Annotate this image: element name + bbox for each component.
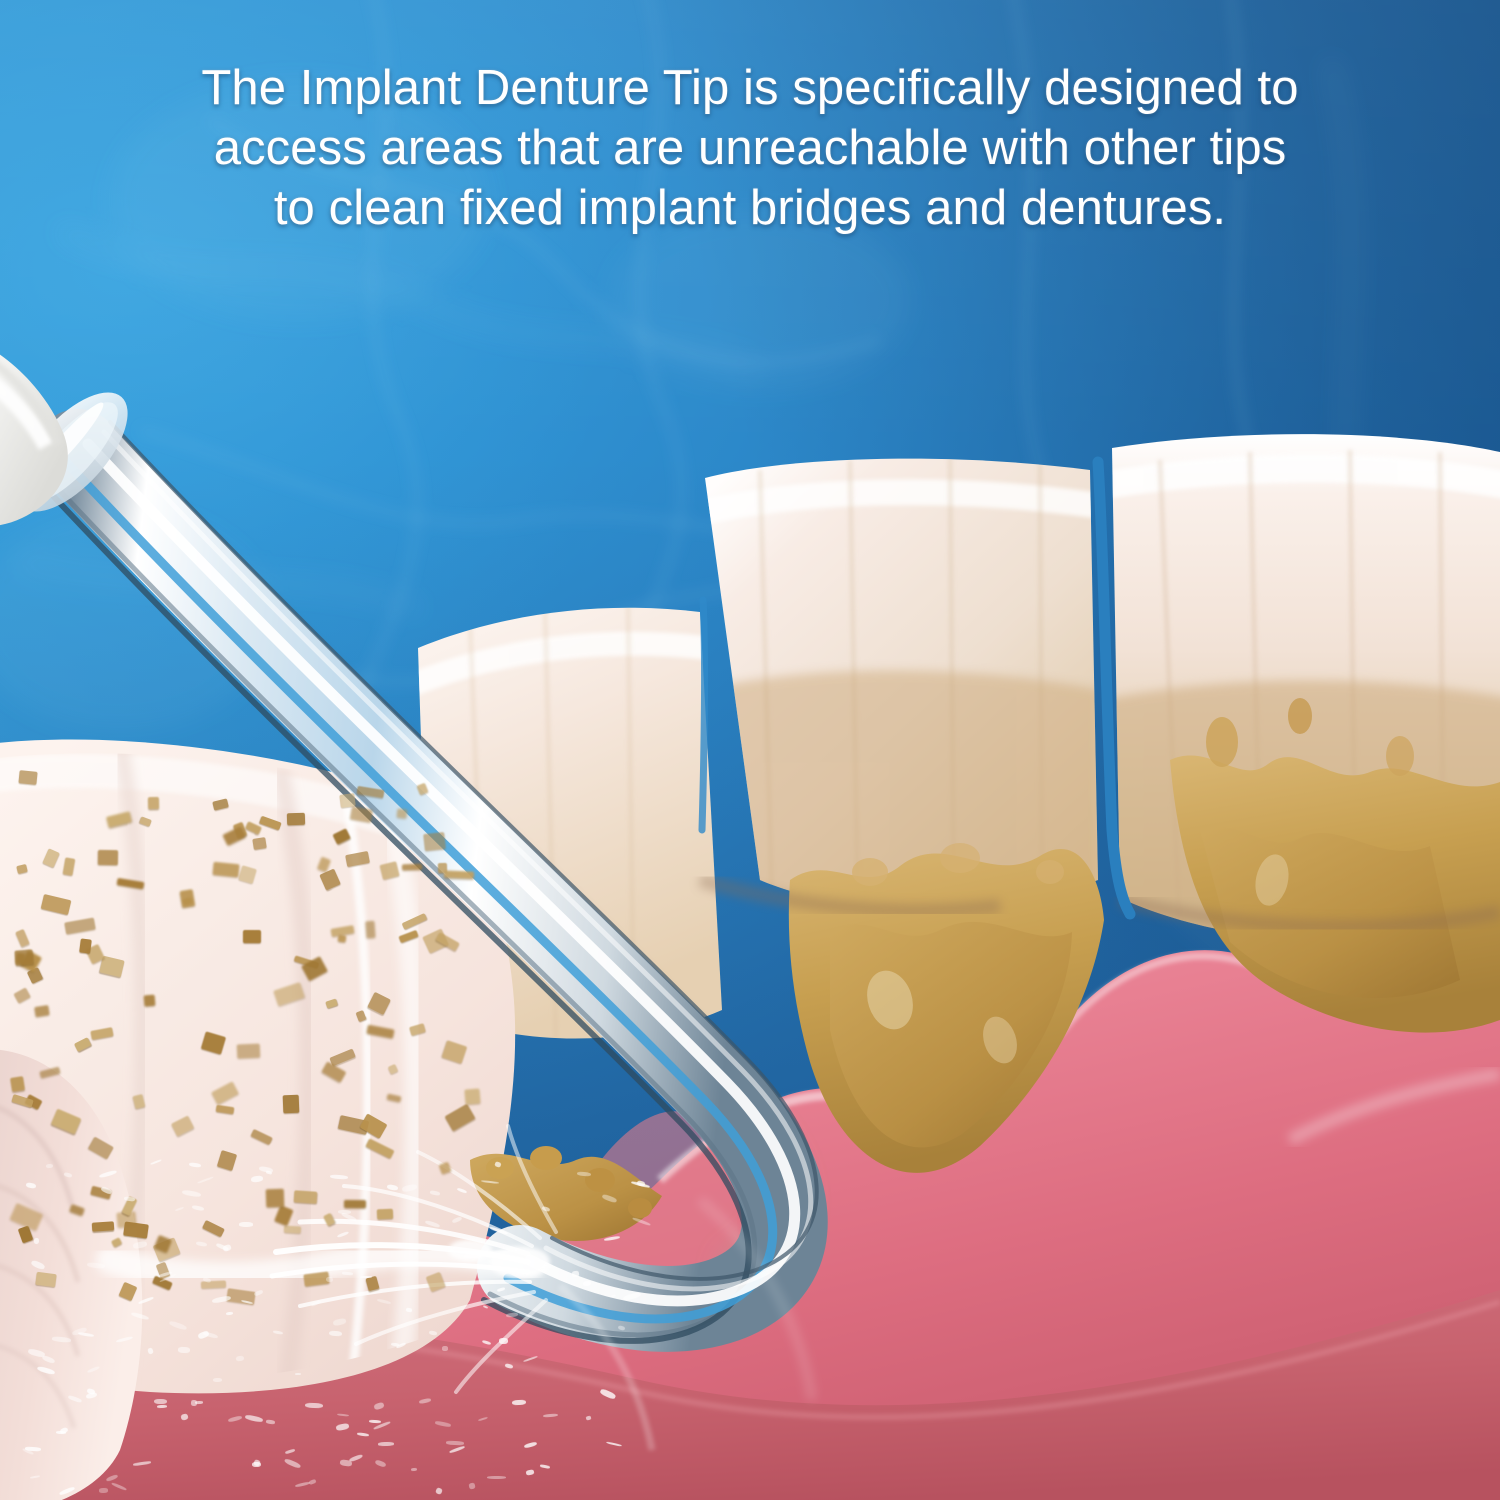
headline-line-2: access areas that are unreachable with o… bbox=[70, 118, 1430, 178]
headline-line-1: The Implant Denture Tip is specifically … bbox=[70, 58, 1430, 118]
headline-line-3: to clean fixed implant bridges and dentu… bbox=[70, 178, 1430, 238]
headline-text: The Implant Denture Tip is specifically … bbox=[0, 58, 1500, 238]
product-illustration-canvas: The Implant Denture Tip is specifically … bbox=[0, 0, 1500, 1500]
